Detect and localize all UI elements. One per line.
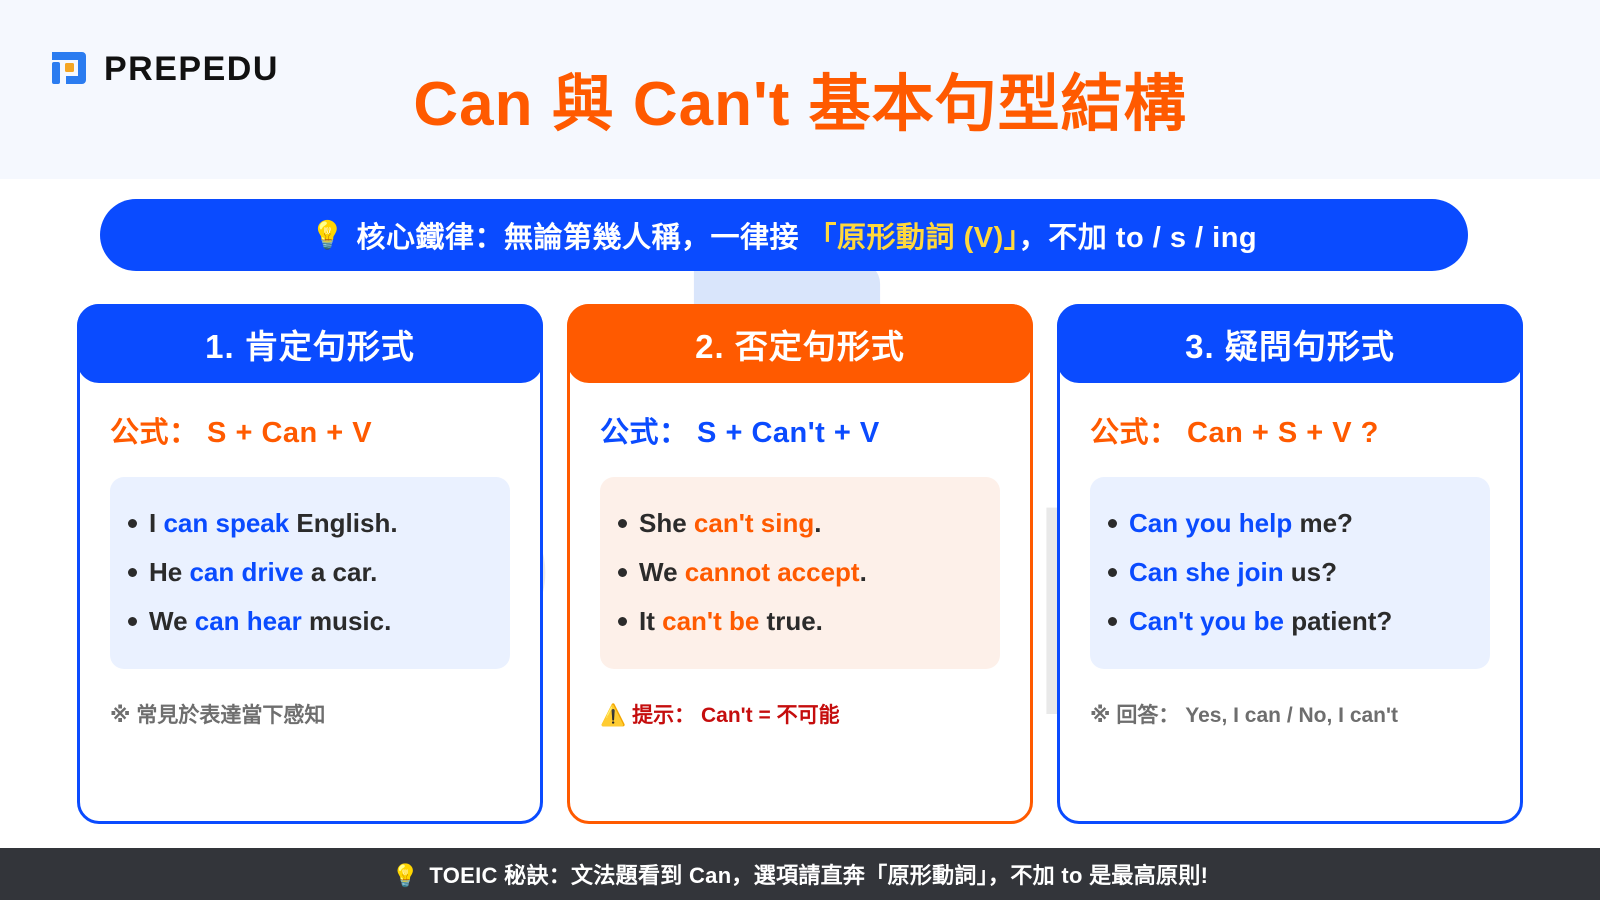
example-key: can't sing bbox=[694, 508, 814, 538]
footer-tip-bar: 💡TOEIC 秘訣：文法題看到 Can，選項請直奔「原形動詞」，不加 to 是最… bbox=[0, 848, 1600, 900]
example-pre: She bbox=[639, 508, 694, 538]
card-affirmative-heading: 1. 肯定句形式 bbox=[205, 320, 415, 368]
footer-tip-body: TOEIC 秘訣：文法題看到 Can，選項請直奔「原形動詞」，不加 to 是最高… bbox=[429, 863, 1208, 888]
card-affirmative-body: 公式： S + Can + V I can speak English. He … bbox=[80, 383, 540, 729]
example-key: Can she join bbox=[1129, 557, 1284, 587]
card-affirmative-footnote: ※常見於表達當下感知 bbox=[110, 699, 510, 729]
banner-highlight: 「原形動詞 (V)」 bbox=[808, 222, 1019, 254]
example-key: can drive bbox=[189, 557, 303, 587]
bullet-icon bbox=[1108, 568, 1117, 577]
card-interrogative-body: 公式： Can + S + V ? Can you help me? Can s… bbox=[1060, 383, 1520, 729]
example-post: me? bbox=[1292, 508, 1353, 538]
example-post: . bbox=[814, 508, 821, 538]
example-post: true. bbox=[759, 606, 823, 636]
card-negative-formula: 公式： S + Can't + V bbox=[600, 409, 1000, 451]
bullet-icon bbox=[618, 519, 627, 528]
banner-text-after: ，不加 to / s / ing bbox=[1019, 222, 1257, 254]
banner-text-before: 核心鐵律：無論第幾人稱，一律接 bbox=[356, 222, 799, 254]
lightbulb-icon: 💡 bbox=[311, 219, 345, 251]
example-key: Can't you be bbox=[1129, 606, 1284, 636]
lightbulb-icon: 💡 bbox=[392, 863, 420, 888]
bullet-icon bbox=[1108, 617, 1117, 626]
card-interrogative-header: 3. 疑問句形式 bbox=[1057, 304, 1523, 383]
footnote-text: 提示： Can't = 不可能 bbox=[632, 704, 839, 727]
reference-mark-icon: ※ bbox=[110, 704, 130, 727]
list-item: Can she join us? bbox=[1108, 548, 1474, 597]
footnote-text: 回答： Yes, I can / No, I can't bbox=[1116, 704, 1398, 727]
card-grid: 1. 肯定句形式 公式： S + Can + V I can speak Eng… bbox=[0, 304, 1600, 824]
warning-icon: ⚠️ bbox=[600, 704, 626, 727]
bullet-icon bbox=[1108, 519, 1117, 528]
list-item: Can't you be patient? bbox=[1108, 597, 1474, 646]
card-negative-examples: She can't sing. We cannot accept. It can… bbox=[600, 477, 1000, 669]
core-rule-text: 核心鐵律：無論第幾人稱，一律接 「原形動詞 (V)」，不加 to / s / i… bbox=[356, 214, 1257, 256]
reference-mark-icon: ※ bbox=[1090, 704, 1110, 727]
bullet-icon bbox=[128, 519, 137, 528]
example-post: a car. bbox=[304, 557, 378, 587]
list-item: He can drive a car. bbox=[128, 548, 494, 597]
example-key: can speak bbox=[163, 508, 289, 538]
list-item: I can speak English. bbox=[128, 499, 494, 548]
example-key: cannot accept bbox=[685, 557, 860, 587]
page-header: PREPEDU Can 與 Can't 基本句型結構 bbox=[0, 0, 1600, 179]
example-pre: He bbox=[149, 557, 189, 587]
example-post: us? bbox=[1284, 557, 1337, 587]
card-interrogative-heading: 3. 疑問句形式 bbox=[1185, 320, 1395, 368]
card-interrogative-examples: Can you help me? Can she join us? Can't … bbox=[1090, 477, 1490, 669]
card-negative-heading: 2. 否定句形式 bbox=[695, 320, 905, 368]
example-pre: I bbox=[149, 508, 163, 538]
example-pre: We bbox=[639, 557, 685, 587]
card-affirmative-header: 1. 肯定句形式 bbox=[77, 304, 543, 383]
card-affirmative: 1. 肯定句形式 公式： S + Can + V I can speak Eng… bbox=[77, 304, 543, 824]
card-affirmative-examples: I can speak English. He can drive a car.… bbox=[110, 477, 510, 669]
list-item: We cannot accept. bbox=[618, 548, 984, 597]
card-negative-footnote: ⚠️提示： Can't = 不可能 bbox=[600, 699, 1000, 729]
footnote-text: 常見於表達當下感知 bbox=[136, 704, 325, 727]
bullet-icon bbox=[618, 617, 627, 626]
list-item: Can you help me? bbox=[1108, 499, 1474, 548]
footer-tip-text: 💡TOEIC 秘訣：文法題看到 Can，選項請直奔「原形動詞」，不加 to 是最… bbox=[392, 858, 1209, 890]
example-post: patient? bbox=[1284, 606, 1392, 636]
card-interrogative-formula: 公式： Can + S + V ? bbox=[1090, 409, 1490, 451]
example-post: English. bbox=[289, 508, 397, 538]
core-rule-banner: 💡 核心鐵律：無論第幾人稱，一律接 「原形動詞 (V)」，不加 to / s /… bbox=[100, 199, 1468, 271]
example-post: music. bbox=[302, 606, 392, 636]
card-interrogative-footnote: ※回答： Yes, I can / No, I can't bbox=[1090, 699, 1490, 729]
page-title: Can 與 Can't 基本句型結構 bbox=[0, 74, 1600, 136]
list-item: We can hear music. bbox=[128, 597, 494, 646]
bullet-icon bbox=[618, 568, 627, 577]
example-post: . bbox=[860, 557, 867, 587]
example-pre: It bbox=[639, 606, 662, 636]
bullet-icon bbox=[128, 568, 137, 577]
card-negative: 2. 否定句形式 公式： S + Can't + V She can't sin… bbox=[567, 304, 1033, 824]
bullet-icon bbox=[128, 617, 137, 626]
card-negative-body: 公式： S + Can't + V She can't sing. We can… bbox=[570, 383, 1030, 729]
card-affirmative-formula: 公式： S + Can + V bbox=[110, 409, 510, 451]
example-key: can't be bbox=[662, 606, 759, 636]
example-pre: We bbox=[149, 606, 195, 636]
example-key: Can you help bbox=[1129, 508, 1292, 538]
card-interrogative: 3. 疑問句形式 公式： Can + S + V ? Can you help … bbox=[1057, 304, 1523, 824]
list-item: She can't sing. bbox=[618, 499, 984, 548]
example-key: can hear bbox=[195, 606, 302, 636]
list-item: It can't be true. bbox=[618, 597, 984, 646]
card-negative-header: 2. 否定句形式 bbox=[567, 304, 1033, 383]
